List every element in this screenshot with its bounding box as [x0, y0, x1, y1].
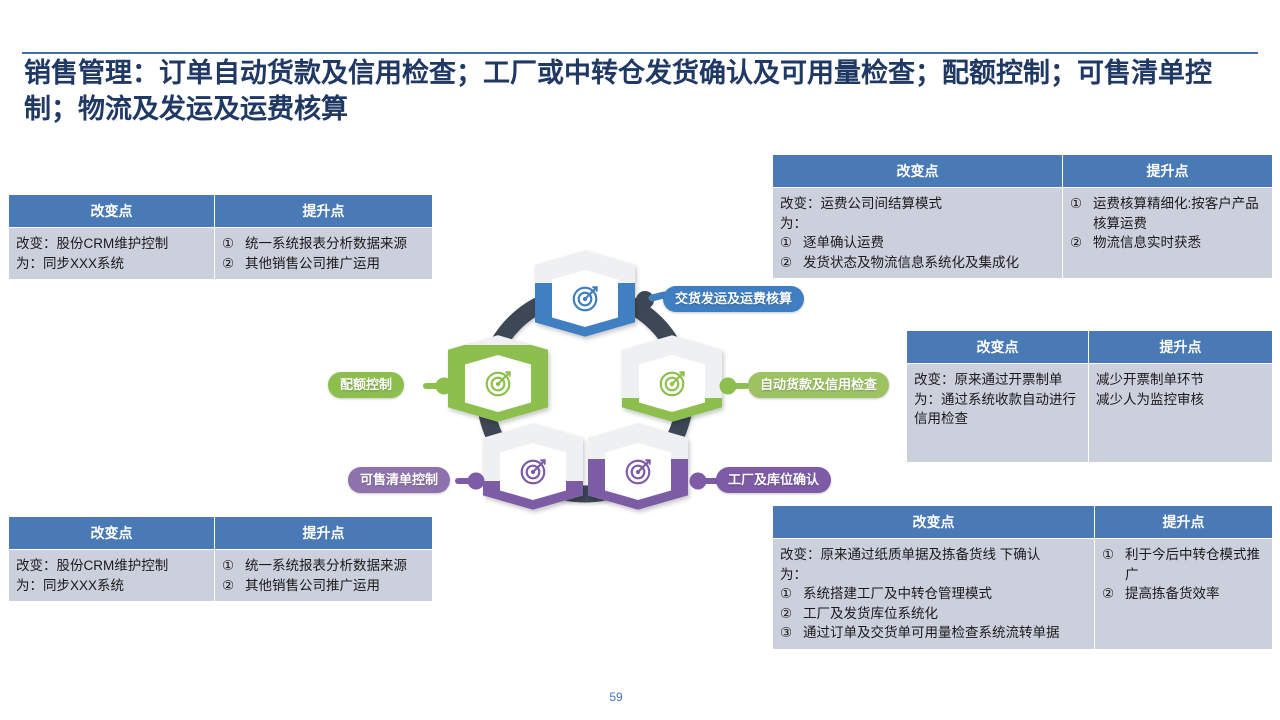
list-marker: ②	[1102, 584, 1119, 604]
cycle-label-delivery[interactable]: 交货发运及运费核算	[663, 286, 804, 312]
column-header-change: 改变点	[907, 331, 1089, 364]
cell-improve: ① 利于今后中转仓模式推广 ② 提高拣备货效率	[1095, 539, 1273, 650]
table-header-row: 改变点 提升点	[907, 331, 1273, 364]
slide-canvas: 销售管理：订单自动货款及信用检查；工厂或中转仓发货确认及可用量检查；配额控制；可…	[0, 0, 1280, 720]
improve-line: 减少人为监控审核	[1096, 390, 1265, 410]
cycle-node-factory[interactable]	[583, 423, 693, 540]
list-item: ① 利于今后中转仓模式推广	[1102, 545, 1265, 584]
list-text: 利于今后中转仓模式推广	[1125, 545, 1265, 584]
table-header-row: 改变点 提升点	[9, 195, 433, 228]
improve-list: ① 运费核算精细化:按客户产品核算运费 ② 物流信息实时获悉	[1070, 194, 1265, 253]
list-marker: ②	[1070, 233, 1087, 253]
list-marker: ②	[780, 604, 797, 624]
table-header-row: 改变点 提升点	[773, 155, 1273, 188]
list-text: 运费核算精细化:按客户产品核算运费	[1093, 194, 1265, 233]
change-line: 改变：原来通过纸质单据及拣备货线 下确认	[780, 545, 1087, 565]
change-line: 为：同步XXX系统	[16, 576, 207, 596]
list-marker: ①	[1102, 545, 1119, 565]
improve-list: ① 统一系统报表分析数据来源 ② 其他销售公司推广运用	[222, 556, 425, 595]
title-divider	[22, 52, 1258, 54]
cell-change: 改变：股份CRM维护控制 为：同步XXX系统	[9, 228, 215, 280]
change-line: 改变：运费公司间结算模式	[780, 194, 1055, 214]
cell-change: 改变：股份CRM维护控制 为：同步XXX系统	[9, 550, 215, 602]
change-line: 改变：原来通过开票制单	[914, 370, 1081, 390]
cycle-label-credit[interactable]: 自动货款及信用检查	[748, 372, 889, 398]
cycle-label-sellable[interactable]: 可售清单控制	[348, 467, 450, 493]
list-marker: ②	[222, 254, 239, 274]
column-header-improve: 提升点	[1095, 506, 1273, 539]
list-text: 系统搭建工厂及中转仓管理模式	[803, 584, 1087, 604]
cycle-node-sellable[interactable]	[478, 423, 588, 540]
column-header-change: 改变点	[9, 195, 215, 228]
list-text: 通过订单及交货单可用量检查系统流转单据	[803, 623, 1087, 643]
hexagon-cycle-diagram: 交货发运及运费核算 自动货款及信用检查 工厂及库位确认 可售清单控制 配额控制	[320, 248, 880, 540]
cycle-label-factory[interactable]: 工厂及库位确认	[716, 467, 831, 493]
table-row: 改变：原来通过开票制单 为：通过系统收款自动进行信用检查 减少开票制单环节 减少…	[907, 364, 1273, 463]
table-row: 改变：原来通过纸质单据及拣备货线 下确认 为： ① 系统搭建工厂及中转仓管理模式…	[773, 539, 1273, 650]
list-marker: ①	[222, 556, 239, 576]
list-item: ② 工厂及发货库位系统化	[780, 604, 1087, 624]
change-line: 改变：股份CRM维护控制	[16, 556, 207, 576]
change-line: 为：	[780, 565, 1087, 585]
list-text: 工厂及发货库位系统化	[803, 604, 1087, 624]
cell-change: 改变：原来通过开票制单 为：通过系统收款自动进行信用检查	[907, 364, 1089, 463]
cell-improve: ① 统一系统报表分析数据来源 ② 其他销售公司推广运用	[215, 550, 433, 602]
list-item: ② 物流信息实时获悉	[1070, 233, 1265, 253]
page-number: 59	[0, 690, 1232, 704]
list-marker: ①	[780, 584, 797, 604]
change-line: 为：	[780, 214, 1055, 234]
list-text: 其他销售公司推广运用	[245, 576, 425, 596]
column-header-improve: 提升点	[215, 195, 433, 228]
list-text: 统一系统报表分析数据来源	[245, 556, 425, 576]
list-marker: ③	[780, 623, 797, 643]
list-marker: ①	[222, 234, 239, 254]
list-text: 提高拣备货效率	[1125, 584, 1265, 604]
column-header-improve: 提升点	[1089, 331, 1273, 364]
change-line: 改变：股份CRM维护控制	[16, 234, 207, 254]
cell-improve: 减少开票制单环节 减少人为监控审核	[1089, 364, 1273, 463]
table-row: 改变：股份CRM维护控制 为：同步XXX系统 ① 统一系统报表分析数据来源 ② …	[9, 550, 433, 602]
improve-line: 减少开票制单环节	[1096, 370, 1265, 390]
list-marker: ①	[1070, 194, 1087, 214]
column-header-change: 改变点	[9, 517, 215, 550]
list-item: ② 其他销售公司推广运用	[222, 576, 425, 596]
list-item: ① 运费核算精细化:按客户产品核算运费	[1070, 194, 1265, 233]
change-line: 为：通过系统收款自动进行信用检查	[914, 390, 1081, 429]
improve-list: ① 利于今后中转仓模式推广 ② 提高拣备货效率	[1102, 545, 1265, 604]
page-title: 销售管理：订单自动货款及信用检查；工厂或中转仓发货确认及可用量检查；配额控制；可…	[24, 56, 1256, 127]
list-item: ③ 通过订单及交货单可用量检查系统流转单据	[780, 623, 1087, 643]
cell-change: 改变：原来通过纸质单据及拣备货线 下确认 为： ① 系统搭建工厂及中转仓管理模式…	[773, 539, 1095, 650]
change-list: ① 系统搭建工厂及中转仓管理模式 ② 工厂及发货库位系统化 ③ 通过订单及交货单…	[780, 584, 1087, 643]
list-item: ① 统一系统报表分析数据来源	[222, 556, 425, 576]
change-line: 为：同步XXX系统	[16, 254, 207, 274]
list-text: 物流信息实时获悉	[1093, 233, 1265, 253]
column-header-change: 改变点	[773, 155, 1063, 188]
table-middle-right: 改变点 提升点 改变：原来通过开票制单 为：通过系统收款自动进行信用检查 减少开…	[906, 330, 1273, 463]
cell-improve: ① 运费核算精细化:按客户产品核算运费 ② 物流信息实时获悉	[1063, 188, 1273, 279]
cycle-label-quota[interactable]: 配额控制	[328, 372, 404, 398]
list-item: ② 提高拣备货效率	[1102, 584, 1265, 604]
list-item: ① 系统搭建工厂及中转仓管理模式	[780, 584, 1087, 604]
list-marker: ②	[222, 576, 239, 596]
column-header-improve: 提升点	[1063, 155, 1273, 188]
